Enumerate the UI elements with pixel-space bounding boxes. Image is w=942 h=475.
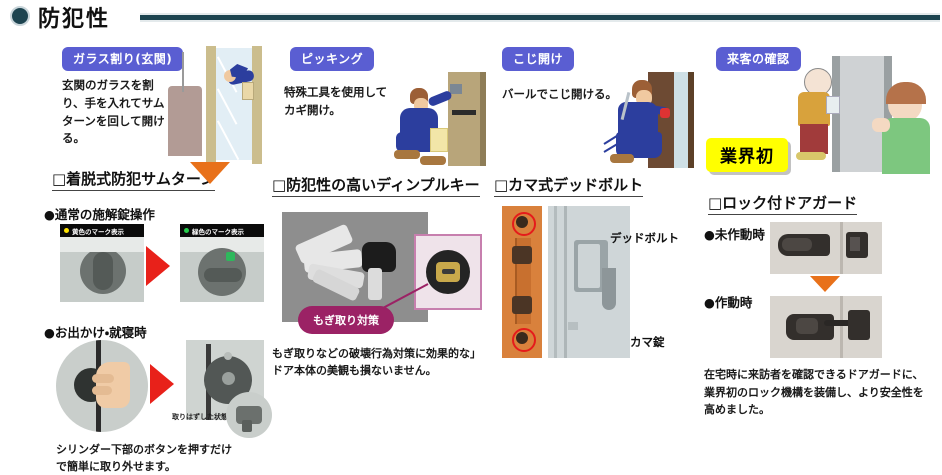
caption-dimple-key: もぎ取りなどの破壊行為対策に効果的な」ドア本体の美観も損ないません。 — [272, 346, 484, 379]
label-yellow-mark: 黄色のマーク表示 — [64, 226, 124, 236]
photo-door-edge — [502, 206, 542, 358]
heading-away-sleep: ●お出かけ・就寝時 — [44, 322, 147, 341]
badge-industry-first: 業界初 — [706, 138, 788, 172]
heading-state-inactive: ●未作動時 — [704, 224, 765, 243]
illustration-visitor — [796, 56, 942, 174]
caption-thumbturn: シリンダー下部のボタンを押すだけで簡単に取り外せます。 — [56, 442, 236, 475]
triangle-right-red-icon-2 — [150, 364, 174, 404]
label-deadbolt: デッドボルト — [610, 230, 679, 246]
page-root: 防犯性 ガラス割り(玄関) 玄関のガラスを割り、手を入れてサムターンを回して開け… — [0, 0, 942, 446]
heading-state-active: ●作動時 — [704, 292, 752, 311]
badge-picking: ピッキング — [290, 47, 374, 71]
description-picking: 特殊工具を使用してカギ開け。 — [284, 84, 396, 120]
section-visitor-check: 来客の確認 業界初 □ロック付ドアガード ●未作動時 — [690, 34, 942, 446]
description-glass-break: 玄関のガラスを割り、手を入れてサムターンを回して開ける。 — [62, 77, 172, 148]
heading-normal-operation: ●通常の施解錠操作 — [44, 204, 155, 223]
photo-guard-active — [770, 296, 882, 358]
triangle-down-orange-icon — [190, 162, 230, 184]
section-title-door-guard: □ロック付ドアガード — [708, 192, 857, 215]
page-header: 防犯性 — [0, 0, 942, 34]
page-title: 防犯性 — [38, 1, 110, 33]
section-picking: ピッキング 特殊工具を使用してカギ開け。 □防犯性の高いディンプルキー — [268, 34, 490, 446]
header-rule — [140, 13, 940, 22]
photo-thumbturn-green: 緑色のマーク表示 — [180, 224, 264, 302]
illustration-pry-open — [602, 72, 696, 172]
triangle-right-red-icon-1 — [146, 246, 170, 286]
badge-glass-break: ガラス割り(玄関) — [62, 47, 183, 71]
photo-thumbturn-hand — [56, 340, 148, 432]
illustration-glass-break — [168, 46, 264, 166]
highlight-circle-bottom — [512, 328, 536, 352]
badge-visitor-check: 来客の確認 — [716, 47, 801, 71]
section-glass-break: ガラス割り(玄関) 玄関のガラスを割り、手を入れてサムターンを回して開ける。 □… — [0, 34, 268, 446]
highlight-circle-top — [512, 212, 536, 236]
label-green-mark: 緑色のマーク表示 — [184, 226, 244, 236]
label-detached-state: 取りはずした状態 — [172, 412, 228, 422]
badge-pry-open: こじ開け — [502, 47, 574, 71]
photo-thumbturn-yellow: 黄色のマーク表示 — [60, 224, 144, 302]
label-kama-lock: カマ錠 — [630, 334, 665, 350]
filled-circle-icon — [10, 6, 30, 26]
photo-guard-inactive — [770, 222, 882, 274]
photo-deadbolt-closeup — [548, 206, 630, 358]
section-title-kama-deadbolt: □カマ式デッドボルト — [494, 174, 643, 197]
caption-door-guard: 在宅時に来訪者を確認できるドアガードに、業界初のロック機構を装備し、より安全性を… — [704, 366, 930, 419]
photo-detached-part — [226, 392, 272, 438]
illustration-picking — [386, 72, 486, 168]
triangle-down-orange-icon-2 — [810, 276, 840, 292]
pill-anti-snatch: もぎ取り対策 — [298, 306, 394, 334]
section-pry-open: こじ開け バールでこじ開ける。 □カマ式デッドボルト — [490, 34, 690, 446]
section-title-dimple-key: □防犯性の高いディンプルキー — [272, 174, 480, 197]
